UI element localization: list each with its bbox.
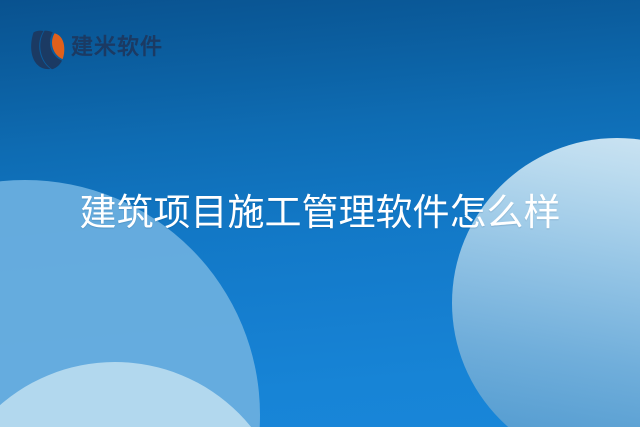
brand-name-text: 建米软件: [71, 37, 163, 59]
promo-banner: 建米软件 建筑项目施工管理软件怎么样: [0, 0, 640, 427]
page-title: 建筑项目施工管理软件怎么样: [80, 193, 561, 234]
jianmi-leaf-logo-icon: [28, 26, 66, 70]
brand-logo[interactable]: 建米软件: [28, 26, 163, 70]
